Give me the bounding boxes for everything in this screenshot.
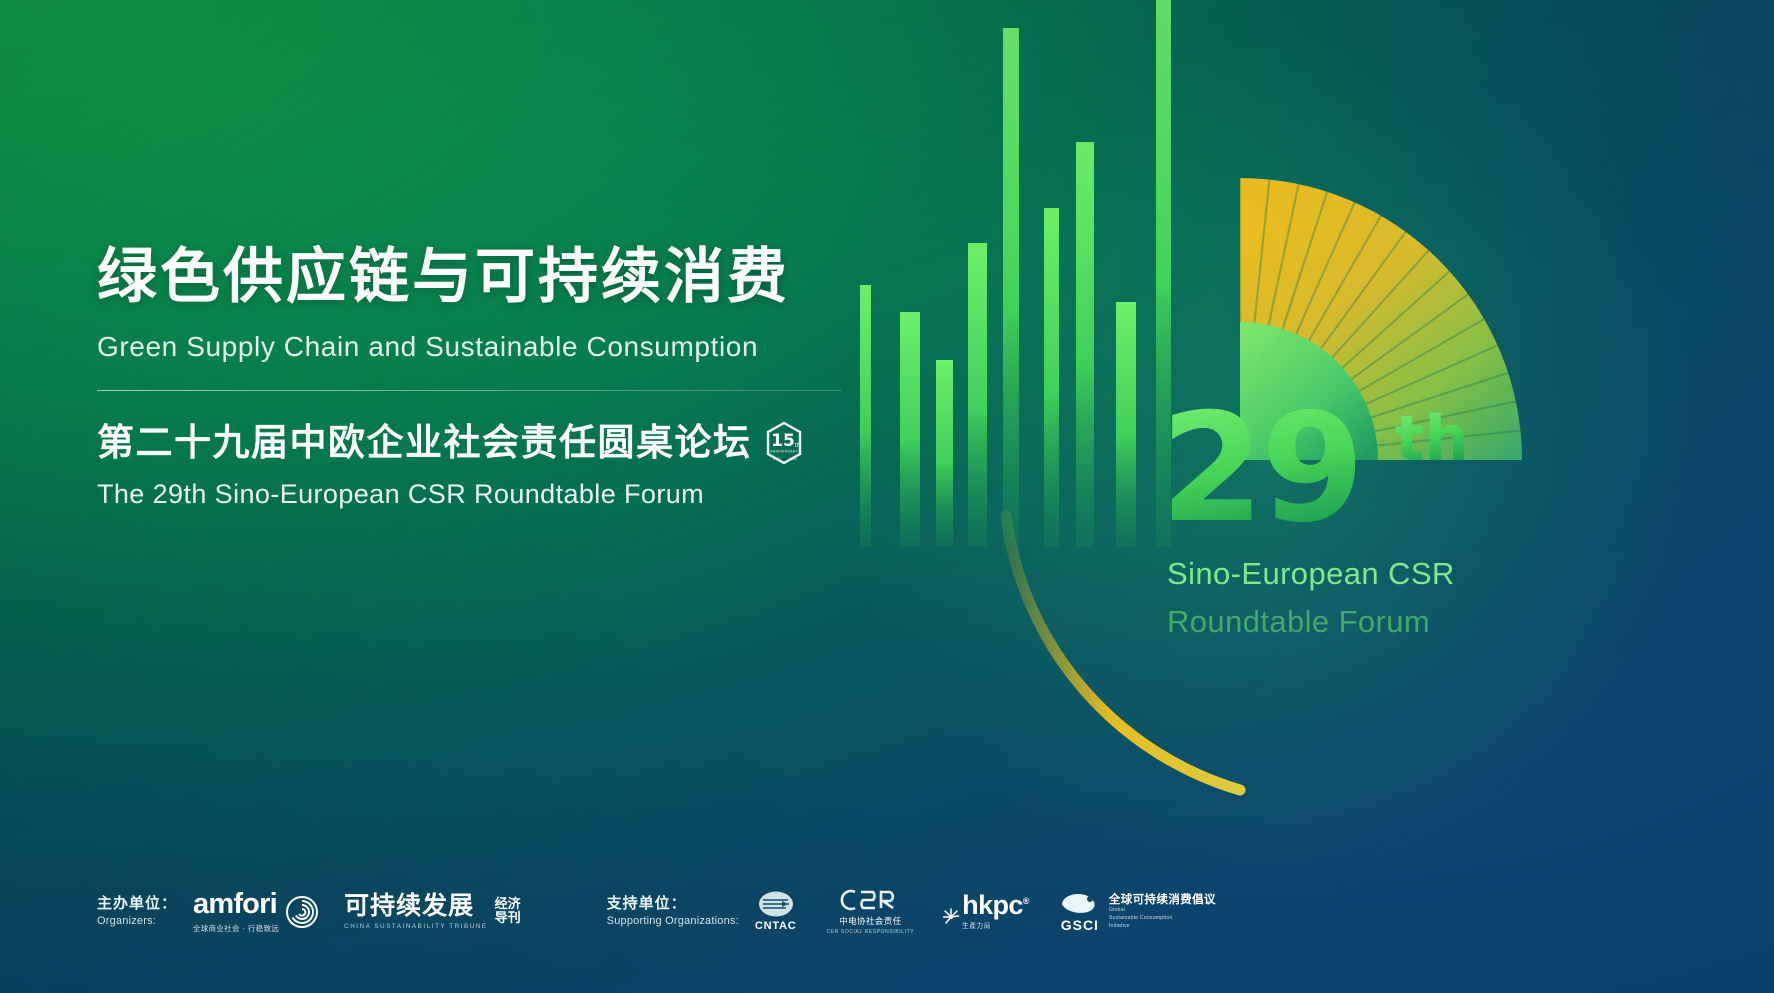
- footer-logo-bar: 主办单位： Organizers: amfori 全球商业社会 · 行稳致远: [97, 888, 1216, 935]
- logo-china-sustainability-tribune[interactable]: 可持续发展 CHINA SUSTAINABILITY TRIBUNE 经济 导刊: [344, 893, 521, 930]
- emblem-ordinal: th: [1395, 402, 1469, 475]
- organizers-label: 主办单位： Organizers:: [97, 894, 177, 929]
- svg-text:15: 15: [771, 431, 795, 451]
- logo-gsci-en-3: Initiative: [1109, 924, 1216, 930]
- gsci-swoosh-icon: [1059, 891, 1101, 915]
- page-title-cn: 绿色供应链与可持续消费: [97, 243, 917, 313]
- supporting-group: 支持单位： Supporting Organizations: CNTAC: [607, 888, 1216, 935]
- organizers-label-cn: 主办单位：: [97, 894, 177, 913]
- burst-icon: [942, 907, 961, 930]
- page-subtitle-en: The 29th Sino-European CSR Roundtable Fo…: [97, 479, 917, 510]
- logo-csj-main: 可持续发展: [344, 893, 487, 918]
- logo-cntac[interactable]: CNTAC: [755, 891, 797, 932]
- emblem-line-1: Sino-European CSR: [1167, 556, 1455, 591]
- logo-hkpc-registered: ®: [1023, 896, 1029, 906]
- logo-cer[interactable]: 中电协社会责任 CER SOCIAL RESPONSIBILITY: [827, 888, 915, 935]
- spiral-icon: [286, 896, 318, 928]
- logo-gsci-name: GSCI: [1059, 917, 1101, 933]
- logo-csj-sub: CHINA SUSTAINABILITY TRIBUNE: [344, 923, 487, 930]
- supporting-label-en: Supporting Organizations:: [607, 915, 739, 929]
- emblem-artwork: 29 th Sino-European CSR Roundtable Forum: [840, 0, 1774, 993]
- subtitle-row: 第二十九届中欧企业社会责任圆桌论坛 15 th ANNIVERSARY 2010…: [97, 421, 917, 465]
- emblem-number: 29: [1160, 382, 1361, 556]
- cer-mark-icon: [839, 888, 901, 912]
- title-divider: [97, 390, 842, 391]
- logo-csj-side-2: 导刊: [495, 912, 521, 926]
- logo-csj-side-1: 经济: [495, 898, 521, 912]
- logo-gsci-cn: 全球可持续消费倡议: [1109, 893, 1216, 906]
- logo-hkpc-word: hkpc®: [962, 893, 1029, 919]
- svg-text:2025: 2025: [789, 457, 797, 461]
- organizers-group: 主办单位： Organizers: amfori 全球商业社会 · 行稳致远: [97, 890, 563, 934]
- supporting-label-cn: 支持单位：: [607, 894, 739, 913]
- logo-amfori-tagline: 全球商业社会 · 行稳致远: [193, 923, 279, 934]
- svg-text:2010: 2010: [773, 457, 781, 461]
- anniversary-badge-icon: 15 th ANNIVERSARY 2010 2025: [764, 421, 804, 465]
- supporting-label: 支持单位： Supporting Organizations:: [607, 894, 739, 929]
- logo-gsci-en-2: Sustainable Consumption: [1109, 916, 1216, 922]
- cntac-mark-icon: [758, 891, 794, 917]
- logo-hkpc-text: hkpc: [962, 890, 1023, 920]
- poster-canvas: 29 th Sino-European CSR Roundtable Forum…: [0, 0, 1774, 993]
- page-title-en: Green Supply Chain and Sustainable Consu…: [97, 330, 917, 364]
- logo-amfori-word: amfori: [193, 890, 279, 919]
- logo-hkpc[interactable]: hkpc® 生產力局: [942, 893, 1029, 931]
- organizers-label-en: Organizers:: [97, 915, 177, 929]
- emblem-line-2: Roundtable Forum: [1167, 604, 1430, 639]
- logo-amfori[interactable]: amfori 全球商业社会 · 行稳致远: [193, 890, 318, 934]
- logo-cntac-name: CNTAC: [755, 920, 797, 932]
- title-block: 绿色供应链与可持续消费 Green Supply Chain and Susta…: [97, 243, 917, 510]
- logo-hkpc-tagline: 生產力局: [962, 920, 1029, 930]
- svg-text:th: th: [795, 443, 800, 449]
- logo-cer-en: CER SOCIAL RESPONSIBILITY: [827, 929, 915, 935]
- svg-text:ANNIVERSARY: ANNIVERSARY: [770, 450, 798, 454]
- logo-cer-cn: 中电协社会责任: [827, 915, 915, 927]
- page-subtitle-cn: 第二十九届中欧企业社会责任圆桌论坛: [97, 422, 752, 465]
- logo-gsci[interactable]: GSCI 全球可持续消费倡议 Global Sustainable Consum…: [1059, 891, 1216, 933]
- logo-gsci-en-1: Global: [1109, 908, 1216, 914]
